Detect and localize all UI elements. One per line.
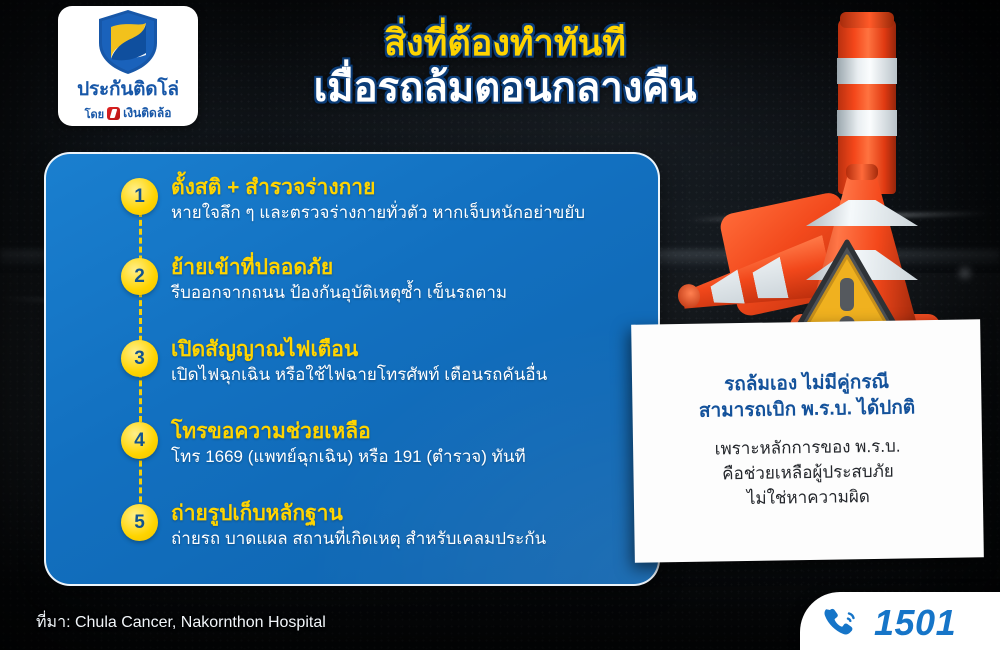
brand-partner-name: เงินติดล้อ: [123, 104, 171, 123]
shield-swoosh-icon: [97, 9, 159, 75]
step-heading: เปิดสัญญาณไฟเตือน: [171, 338, 641, 363]
step-number-badge: 2: [121, 258, 158, 295]
source-credit: ที่มา: Chula Cancer, Nakornthon Hospital: [36, 610, 326, 635]
note-heading-line-2: สามารถเบิก พ.ร.บ. ได้ปกติ: [699, 395, 916, 424]
step-description: ถ่ายรถ บาดแผล สถานที่เกิดเหตุ สำหรับเคลม…: [171, 528, 641, 550]
step-description: เปิดไฟฉุกเฉิน หรือใช้ไฟฉายโทรศัพท์ เตือน…: [171, 364, 641, 386]
step-number-badge: 5: [121, 504, 158, 541]
note-heading-line-1: รถล้มเอง ไม่มีคู่กรณี: [724, 370, 889, 398]
infographic-canvas: ประกันติดโล่ โดย เงินติดล้อ สิ่งที่ต้องท…: [0, 0, 1000, 650]
step-number-badge: 4: [121, 422, 158, 459]
step-heading: ตั้งสติ + สำรวจร่างกาย: [171, 176, 641, 201]
step-number-badge: 1: [121, 178, 158, 215]
step-description: โทร 1669 (แพทย์ฉุกเฉิน) หรือ 191 (ตำรวจ)…: [171, 446, 641, 468]
brand-name: ประกันติดโล่: [77, 80, 179, 99]
step-description: หายใจลึก ๆ และตรวจร่างกายทั่วตัว หากเจ็บ…: [171, 202, 641, 224]
brand-logo: ประกันติดโล่ โดย เงินติดล้อ: [58, 6, 198, 126]
note-body-line-1: เพราะหลักการของ พ.ร.บ.: [714, 435, 900, 463]
phone-ringing-icon: [822, 603, 862, 643]
brand-by-label: โดย: [85, 105, 105, 123]
highlight-note-card: รถล้มเอง ไม่มีคู่กรณี สามารถเบิก พ.ร.บ. …: [631, 319, 984, 562]
title-line-2: เมื่อรถล้มตอนกลางคืน: [250, 66, 760, 112]
page-title: สิ่งที่ต้องทำทันที เมื่อรถล้มตอนกลางคืน: [250, 22, 760, 111]
steps-panel: 1 ตั้งสติ + สำรวจร่างกาย หายใจลึก ๆ และต…: [44, 152, 660, 586]
red-square-mark-icon: [107, 107, 120, 120]
step-heading: โทรขอความช่วยเหลือ: [171, 420, 641, 445]
note-body-line-2: คือช่วยเหลือผู้ประสบภัย: [715, 460, 901, 488]
hotline-badge[interactable]: 1501: [800, 592, 1000, 650]
note-body-line-3: ไม่ใช่หาความผิด: [715, 484, 901, 512]
step-heading: ย้ายเข้าที่ปลอดภัย: [171, 256, 641, 281]
step-description: รีบออกจากถนน ป้องกันอุบัติเหตุซ้ำ เข็นรถ…: [171, 282, 641, 304]
title-line-1: สิ่งที่ต้องทำทันที: [250, 22, 760, 64]
hotline-number: 1501: [874, 602, 956, 644]
step-number-badge: 3: [121, 340, 158, 377]
step-heading: ถ่ายรูปเก็บหลักฐาน: [171, 502, 641, 527]
